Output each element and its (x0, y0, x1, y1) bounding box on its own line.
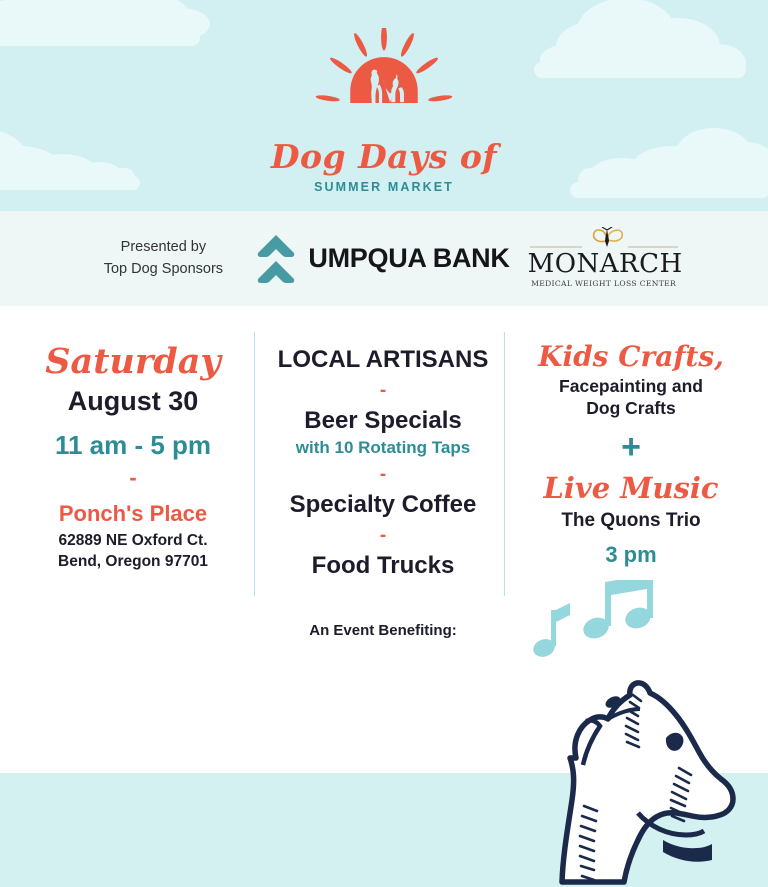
event-details-column: Saturday August 30 11 am - 5 pm - Ponch'… (24, 344, 242, 571)
kids-crafts-title: Kids Crafts, (518, 342, 744, 371)
event-date: August 30 (24, 386, 242, 417)
logo-subtitle: SUMMER MARKET (0, 180, 768, 194)
live-music-title: Live Music (518, 474, 744, 503)
plus-separator: + (518, 430, 744, 464)
activities-column: Kids Crafts, Facepainting and Dog Crafts… (518, 342, 744, 568)
event-day: Saturday (24, 344, 242, 379)
presented-by-line2: Top Dog Sponsors (88, 259, 238, 280)
separator-dash: - (24, 467, 242, 489)
event-venue: Ponch's Place (24, 501, 242, 527)
divider-left (254, 332, 255, 596)
sponsor-band: Presented by Top Dog Sponsors UMPQUA BAN… (0, 211, 768, 306)
presented-by-line1: Presented by (88, 237, 238, 258)
offerings-column: LOCAL ARTISANS - Beer Specials with 10 R… (266, 346, 500, 639)
event-time: 11 am - 5 pm (24, 430, 242, 461)
event-address-line2: Bend, Oregon 97701 (24, 553, 242, 571)
show-time: 3 pm (518, 542, 744, 568)
offering-title: Beer Specials (266, 407, 500, 435)
presented-by-label: Presented by Top Dog Sponsors (88, 237, 238, 279)
offering-title: Food Trucks (266, 552, 500, 580)
kids-detail-line2: Dog Crafts (518, 398, 744, 420)
umpqua-bank-name: UMPQUA BANK (308, 243, 509, 274)
offering-title: Specialty Coffee (266, 491, 500, 519)
event-logo: Dog Days of SUMMER MARKET (0, 0, 768, 211)
double-chevron-up-icon (256, 233, 296, 285)
kids-crafts-detail: Facepainting and Dog Crafts (518, 376, 744, 420)
event-address-line1: 62889 NE Oxford Ct. (24, 532, 242, 550)
monarch-tagline: MEDICAL WEIGHT LOSS CENTER (528, 279, 680, 288)
music-notes-icon (530, 580, 660, 670)
event-flyer: Dog Days of SUMMER MARKET Presented by T… (0, 0, 768, 887)
separator-dash: - (266, 465, 500, 484)
offering-subtitle: with 10 Rotating Taps (266, 438, 500, 458)
benefiting-label: An Event Benefiting: (266, 622, 500, 639)
monarch-name: MONARCH (528, 249, 680, 279)
umpqua-bank-logo: UMPQUA BANK (256, 233, 509, 285)
offering-title: LOCAL ARTISANS (266, 346, 500, 374)
separator-dash: - (266, 526, 500, 545)
sky-background: Dog Days of SUMMER MARKET (0, 0, 768, 211)
kids-detail-line1: Facepainting and (518, 376, 744, 398)
logo-script-text: Dog Days of (0, 137, 768, 176)
sunrise-dog-cat-logo (314, 28, 454, 133)
divider-right (504, 332, 505, 596)
separator-dash: - (266, 381, 500, 400)
monarch-logo: MONARCH MEDICAL WEIGHT LOSS CENTER (528, 229, 680, 289)
band-name: The Quons Trio (518, 510, 744, 532)
